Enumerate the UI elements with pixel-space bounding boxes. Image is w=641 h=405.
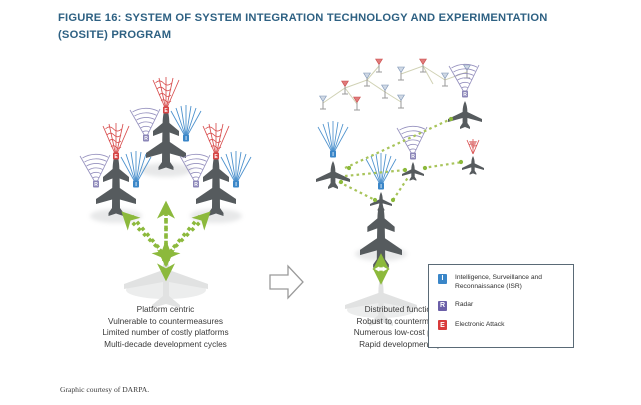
legend-label-isr: Intelligence, Surveillance and Reconnais…: [455, 273, 566, 291]
page-title-line-2: (SOSITE) PROGRAM: [58, 27, 618, 44]
electronic-attack-icon: E: [438, 320, 447, 330]
legend-label-electronic-attack: Electronic Attack: [455, 320, 504, 329]
platform-radar-center: [397, 126, 427, 180]
left-caption: Platform centric Vulnerable to counterme…: [58, 304, 273, 350]
platform-ea-right: [462, 139, 484, 175]
platform-radar-upper-right: [448, 64, 482, 129]
legend-item-electronic-attack: E Electronic Attack: [438, 320, 566, 331]
panel-platform-centric: E I: [58, 58, 273, 378]
platform-centric-diagram: E I: [58, 58, 273, 328]
legend-item-isr: I Intelligence, Surveillance and Reconna…: [438, 273, 566, 291]
page-title-line-1: FIGURE 16: SYSTEM OF SYSTEM INTEGRATION …: [58, 10, 618, 27]
left-caption-line-1: Platform centric: [58, 304, 273, 315]
figure-graphic: E I: [0, 58, 641, 378]
platform-isr-left: [316, 121, 350, 189]
radar-icon: R: [438, 301, 447, 311]
page-title: FIGURE 16: SYSTEM OF SYSTEM INTEGRATION …: [58, 10, 618, 44]
swarm-nodes: [320, 59, 471, 110]
transition-arrow: [268, 262, 306, 302]
legend-item-radar: R Radar: [438, 300, 566, 311]
right-arrow-icon: [270, 266, 303, 298]
legend-label-radar: Radar: [455, 300, 473, 309]
left-caption-line-4: Multi-decade development cycles: [58, 339, 273, 350]
legend-box: I Intelligence, Surveillance and Reconna…: [428, 264, 574, 348]
isr-icon: I: [438, 274, 447, 284]
left-caption-line-3: Limited number of costly platforms: [58, 327, 273, 338]
distributed-links: [339, 118, 463, 200]
figure-page: FIGURE 16: SYSTEM OF SYSTEM INTEGRATION …: [0, 0, 641, 405]
figure-credit: Graphic courtesy of DARPA.: [60, 385, 149, 394]
left-caption-line-2: Vulnerable to countermeasures: [58, 316, 273, 327]
